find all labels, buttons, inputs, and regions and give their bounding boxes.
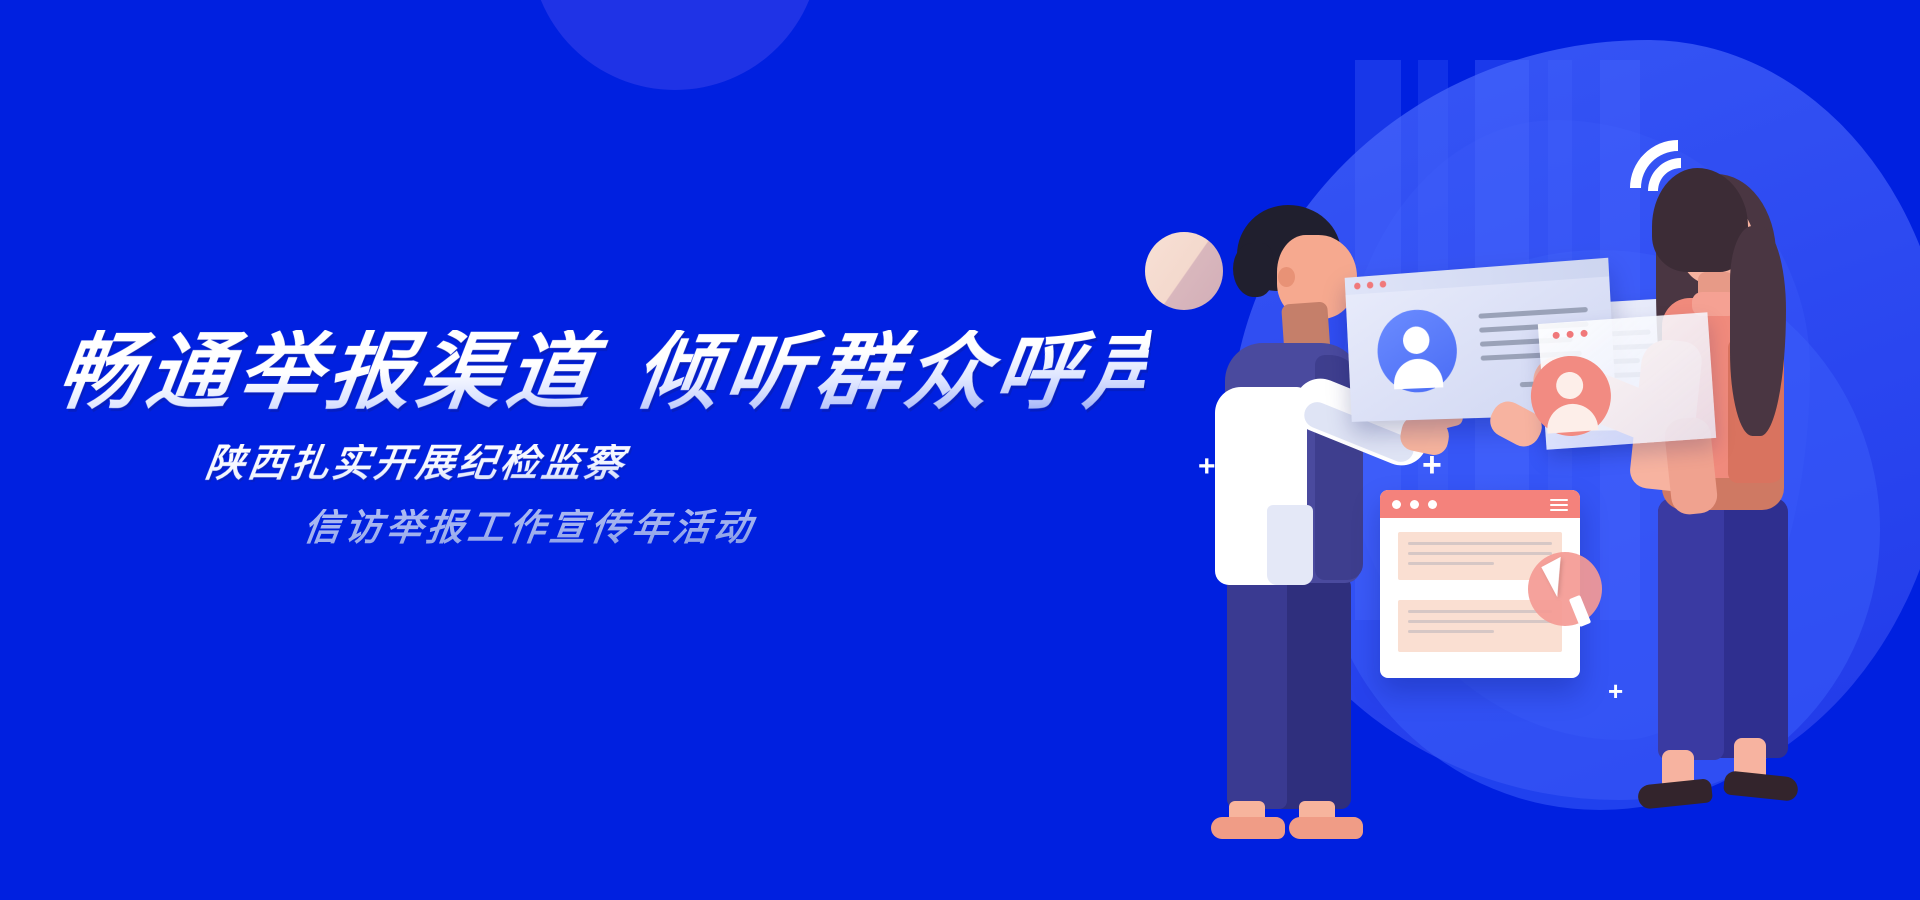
illustration — [1150, 0, 1920, 900]
promo-banner: + + + 畅通举报渠道倾听群众呼声 陕西扎实开展纪检监察 信访举报工作宣传年活… — [0, 0, 1920, 900]
subtitle-line-1: 陕西扎实开展纪检监察 — [203, 444, 1148, 483]
woman-shoe — [1637, 778, 1713, 810]
window-dot — [1552, 332, 1559, 339]
man-hair-side — [1233, 243, 1273, 297]
top-decorative-circle — [530, 0, 820, 90]
woman-shoe — [1723, 770, 1799, 802]
text-line — [1408, 620, 1552, 623]
headline-segment-1: 畅通举报渠道 — [51, 325, 604, 419]
window-dot — [1410, 500, 1419, 509]
text-line — [1478, 307, 1587, 319]
woman-pants-left-leg — [1658, 498, 1724, 760]
handheld-profile-card — [1538, 312, 1716, 450]
subtitle-line-2: 信访举报工作宣传年活动 — [301, 509, 1148, 546]
text-line — [1408, 542, 1552, 545]
woman-figure — [1618, 168, 1858, 830]
window-dot — [1392, 500, 1401, 509]
window-dot — [1566, 331, 1573, 338]
window-dot — [1580, 330, 1587, 337]
hamburger-menu-icon — [1550, 499, 1568, 510]
man-pants-left-leg — [1227, 573, 1287, 809]
text-line — [1408, 610, 1552, 613]
man-shirt-shadow — [1267, 505, 1313, 585]
man-shoe — [1211, 817, 1285, 839]
man-shoe — [1289, 817, 1363, 839]
page-title: 畅通举报渠道倾听群众呼声 — [40, 330, 1152, 414]
man-ear — [1278, 267, 1295, 287]
headline-segment-2: 倾听群众呼声 — [629, 325, 1182, 419]
headline-text-block: 畅通举报渠道倾听群众呼声 陕西扎实开展纪检监察 信访举报工作宣传年活动 — [46, 330, 1146, 546]
text-line — [1408, 562, 1494, 565]
text-line — [1408, 630, 1494, 633]
browser-titlebar — [1380, 490, 1580, 518]
text-line — [1408, 552, 1552, 555]
window-dot — [1428, 500, 1437, 509]
